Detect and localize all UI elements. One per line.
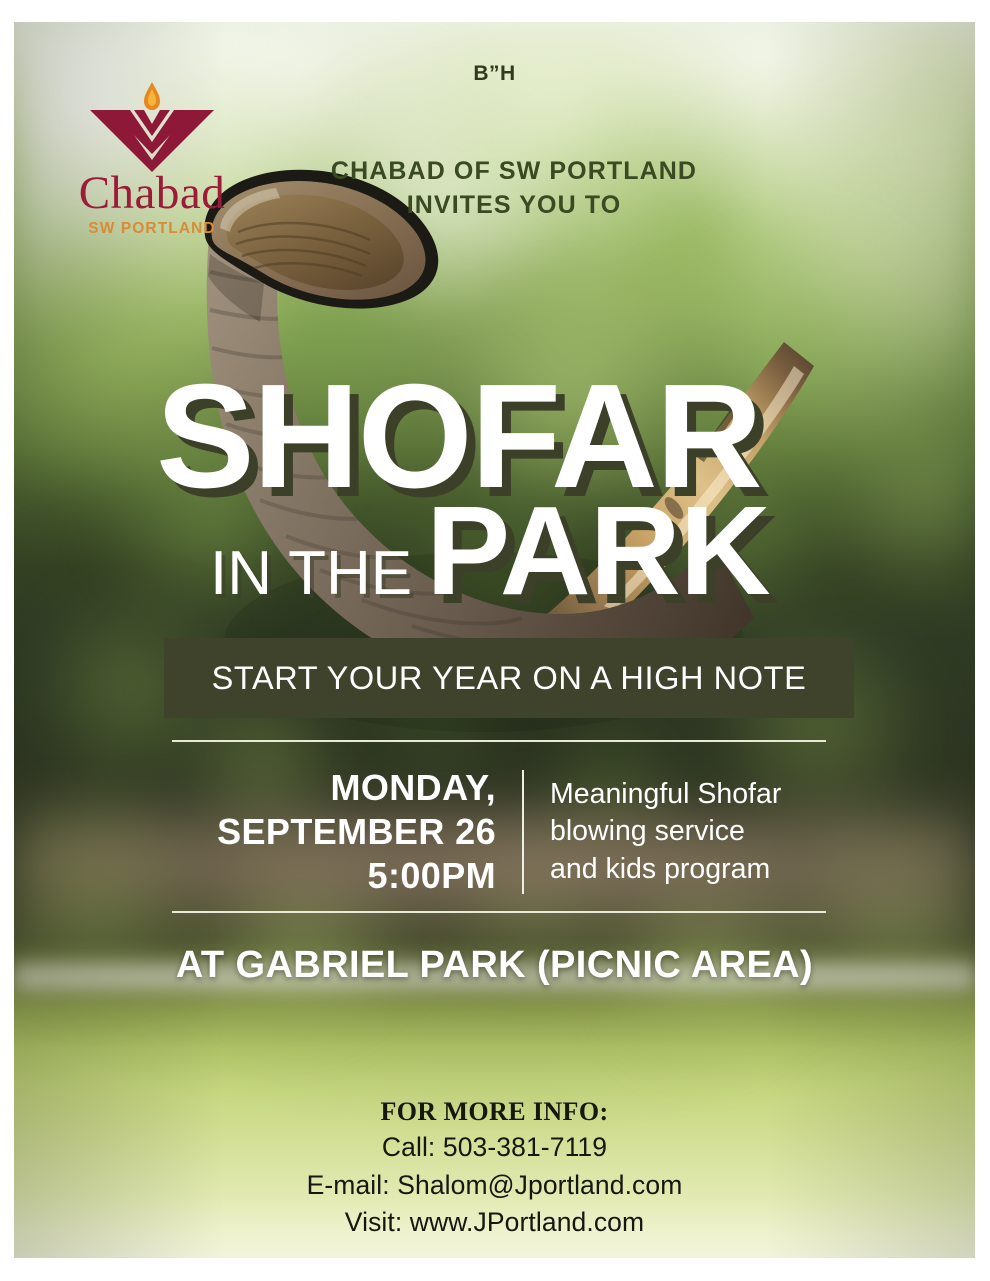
date-line-2: SEPTEMBER 26 [217,810,496,854]
event-description-column: Meaningful Shofar blowing service and ki… [524,762,826,902]
logo-wordmark: Chabad [62,170,242,217]
title-in-the: IN THE [210,543,412,605]
chabad-logo[interactable]: Chabad SW PORTLAND [62,80,242,238]
chabad-flame-chevron-icon [86,80,218,172]
description-line-1: Meaningful Shofar [550,776,826,813]
description-line-2: blowing service [550,813,826,850]
invite-text: CHABAD OF SW PORTLAND INVITES YOU TO [264,154,764,222]
date-line-1: MONDAY, [330,766,496,810]
contact-heading: FOR MORE INFO: [14,1094,975,1129]
description-line-3: and kids program [550,851,826,888]
contact-website[interactable]: Visit: www.JPortland.com [14,1204,975,1242]
contact-email[interactable]: E-mail: Shalom@Jportland.com [14,1167,975,1205]
event-details: MONDAY, SEPTEMBER 26 5:00PM Meaningful S… [172,762,826,902]
logo-subtitle: SW PORTLAND [62,220,242,238]
title-park: PARK [426,488,770,614]
event-date-column: MONDAY, SEPTEMBER 26 5:00PM [172,762,522,902]
contact-block: FOR MORE INFO: Call: 503-381-7119 E-mail… [14,1094,975,1242]
contact-phone[interactable]: Call: 503-381-7119 [14,1129,975,1167]
tagline-banner: START YOUR YEAR ON A HIGH NOTE [164,638,854,718]
venue-text: AT GABRIEL PARK (PICNIC AREA) [14,944,975,987]
background-photo-plate: B”H Chabad SW PORTLAND CHABAD OF SW [14,22,975,1258]
date-line-3: 5:00PM [368,854,496,898]
divider-rule-bottom [172,911,826,913]
tagline-text: START YOUR YEAR ON A HIGH NOTE [212,660,807,697]
flyer-page: B”H Chabad SW PORTLAND CHABAD OF SW [0,0,990,1281]
invite-line-1: CHABAD OF SW PORTLAND [264,154,764,188]
flyer-content: B”H Chabad SW PORTLAND CHABAD OF SW [14,22,975,1258]
hero-title: SHOFAR IN THE PARK [14,366,975,616]
title-second-row: IN THE PARK [210,488,770,614]
invite-line-2: INVITES YOU TO [264,188,764,222]
divider-rule-top [172,740,826,742]
